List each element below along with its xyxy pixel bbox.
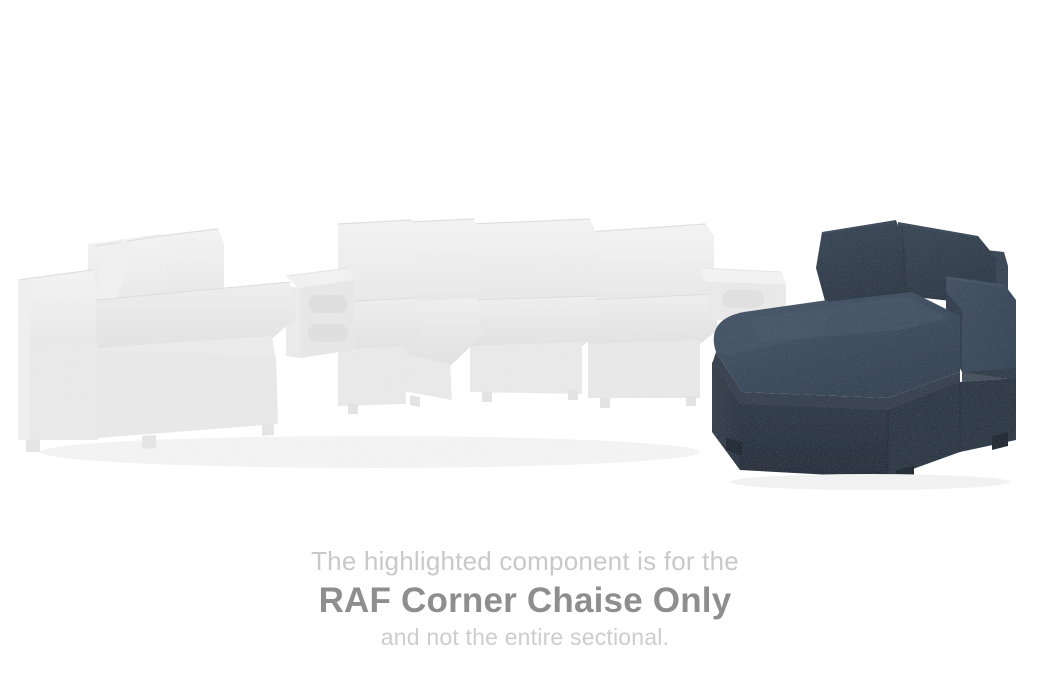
caption-line-3: and not the entire sectional. xyxy=(0,626,1050,649)
ghost-cupholder-upper xyxy=(308,295,348,313)
ghost-cupholder-right xyxy=(722,290,764,308)
ghost-console-left xyxy=(286,268,354,358)
ghost-armless-chair-far-right xyxy=(588,224,718,408)
chaise-base-long-face xyxy=(740,404,888,478)
product-highlight-figure: The highlighted component is for the RAF… xyxy=(0,0,1050,700)
ghost-cupholder-lower xyxy=(308,324,348,342)
ghost-floor-shadow xyxy=(40,436,700,468)
caption-line-2-component-name: RAF Corner Chaise Only xyxy=(0,583,1050,626)
ghost-laf-loveseat xyxy=(18,228,296,452)
ghost-sectional-group xyxy=(18,219,786,468)
highlighted-raf-corner-chaise xyxy=(712,220,1016,490)
chaise-floor-shadow xyxy=(730,474,1010,490)
caption-block: The highlighted component is for the RAF… xyxy=(0,548,1050,649)
caption-line-1: The highlighted component is for the xyxy=(0,548,1050,583)
ghost-armless-chair-right xyxy=(470,219,600,402)
